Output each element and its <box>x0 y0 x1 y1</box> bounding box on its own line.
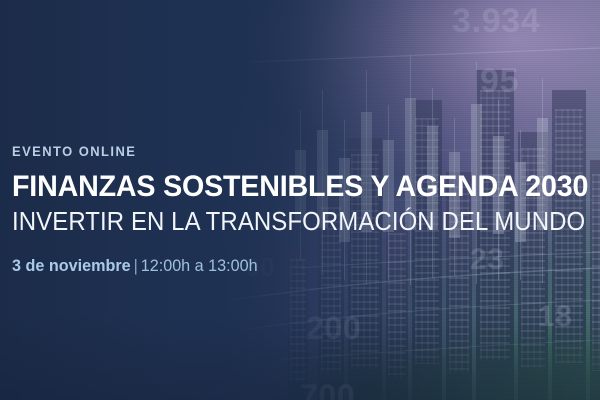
dateline-separator: | <box>131 257 141 275</box>
page-subtitle: INVERTIR EN LA TRANSFORMACIÓN DEL MUNDO <box>12 210 557 236</box>
eyebrow-label: EVENTO ONLINE <box>12 145 569 159</box>
event-date: 3 de noviembre <box>12 257 131 275</box>
banner-copy: EVENTO ONLINE FINANZAS SOSTENIBLES Y AGE… <box>12 145 592 275</box>
page-title: FINANZAS SOSTENIBLES Y AGENDA 2030 <box>12 172 566 202</box>
event-time: 12:00h a 13:00h <box>141 257 258 275</box>
event-dateline: 3 de noviembre|12:00h a 13:00h <box>12 258 580 275</box>
event-banner: 3.934 95 23 18 200 700 00 EVENTO ONLINE … <box>0 0 600 400</box>
